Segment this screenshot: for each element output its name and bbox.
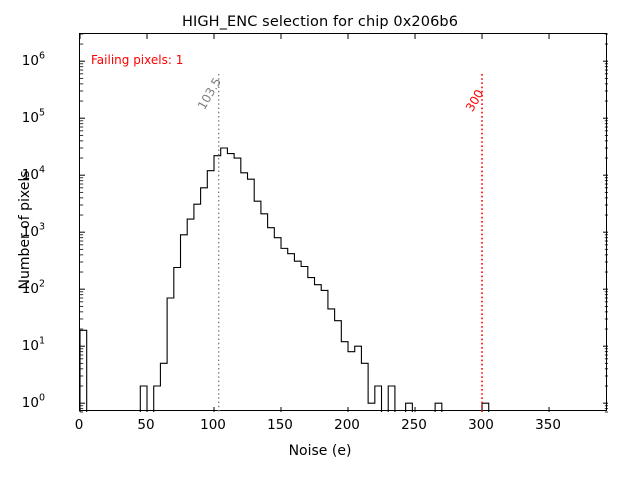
x-tick-label: 100 [200, 417, 226, 433]
y-tick-exponent: 3 [39, 221, 45, 232]
y-tick-label: 106 [22, 51, 45, 69]
figure-canvas: HIGH_ENC selection for chip 0x206b6 Fail… [0, 0, 640, 480]
y-tick-label: 104 [22, 165, 45, 183]
chart-title: HIGH_ENC selection for chip 0x206b6 [0, 14, 640, 30]
y-tick-label: 103 [22, 222, 45, 240]
x-tick-label: 250 [401, 417, 427, 433]
y-minor-ticks [80, 34, 608, 412]
vertical-marker-lines [219, 74, 482, 412]
y-tick-exponent: 2 [39, 278, 45, 289]
y-tick-exponent: 1 [39, 335, 45, 346]
x-axis-label: Noise (e) [0, 443, 640, 459]
y-tick-exponent: 4 [39, 164, 45, 175]
y-tick-label: 101 [22, 336, 45, 354]
x-tick-label: 300 [468, 417, 494, 433]
histogram-plot [80, 34, 608, 412]
x-tick-label: 0 [75, 417, 84, 433]
histogram-step-outline [80, 148, 489, 412]
y-tick-exponent: 0 [39, 392, 45, 403]
x-tick-label: 50 [137, 417, 154, 433]
x-tick-label: 150 [267, 417, 293, 433]
y-tick-label: 105 [22, 108, 45, 126]
y-tick-exponent: 5 [39, 107, 45, 118]
y-tick-label: 102 [22, 279, 45, 297]
y-tick-exponent: 6 [39, 50, 45, 61]
x-tick-label: 350 [535, 417, 561, 433]
plot-area [79, 33, 607, 411]
x-tick-label: 200 [334, 417, 360, 433]
y-tick-label: 100 [22, 393, 45, 411]
axis-major-ticks [80, 34, 608, 412]
